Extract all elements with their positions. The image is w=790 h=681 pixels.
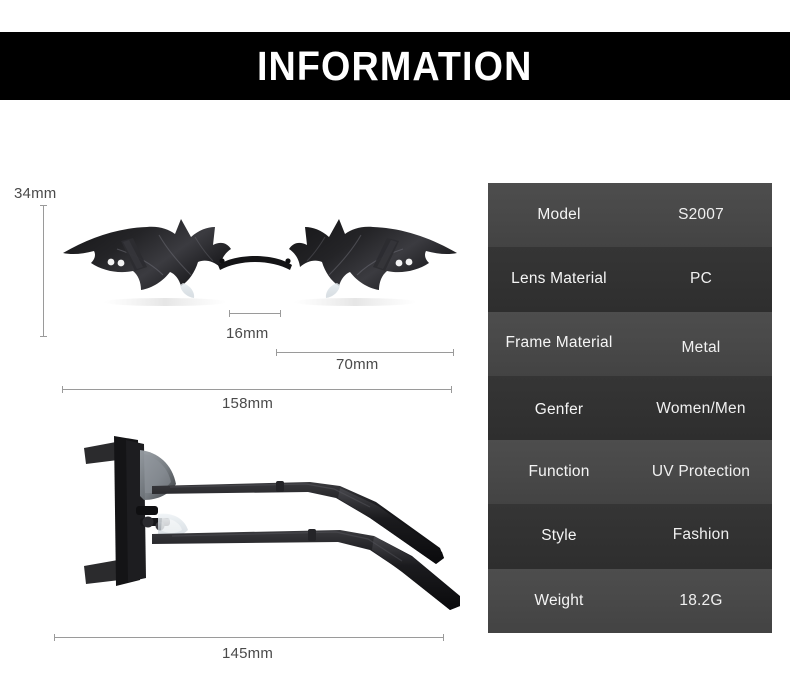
page-title: INFORMATION: [257, 46, 532, 87]
table-row: Frame Material Metal: [488, 312, 772, 376]
spec-key: Lens Material: [488, 270, 630, 289]
table-row: Style Fashion: [488, 504, 772, 568]
dimension-line-lens-height: [43, 205, 44, 337]
nose-pad-right: [326, 283, 340, 298]
spec-value: UV Protection: [630, 463, 772, 482]
spec-value: Women/Men: [630, 400, 772, 419]
specification-table: Model S2007 Lens Material PC Frame Mater…: [488, 183, 772, 633]
rivet: [406, 259, 413, 266]
product-side-view: [40, 430, 460, 610]
temple-joint: [308, 529, 316, 541]
bridge-end-left: [219, 258, 224, 263]
bridge-end-right: [285, 258, 290, 263]
nose-pad-left: [180, 283, 194, 298]
dimension-label-bridge-width: 16mm: [226, 325, 268, 342]
spec-value: S2007: [630, 206, 772, 225]
spec-key: Frame Material: [488, 334, 630, 353]
front-shadow-right: [293, 298, 417, 306]
table-row: Model S2007: [488, 183, 772, 247]
spec-key: Function: [488, 463, 630, 482]
temple-joint: [276, 481, 284, 492]
rivet: [118, 260, 125, 267]
spec-value: Metal: [630, 339, 772, 358]
front-shadow-left: [103, 298, 227, 306]
dimension-line-frame-width: [62, 389, 452, 390]
right-wing: [289, 219, 457, 298]
dimension-label-temple-length: 145mm: [222, 645, 273, 662]
table-row: Weight 18.2G: [488, 569, 772, 633]
dimension-line-lens-width: [276, 352, 454, 353]
dimension-label-frame-width: 158mm: [222, 395, 273, 412]
dimension-line-bridge-width: [229, 313, 281, 314]
information-page: INFORMATION: [0, 0, 790, 681]
table-row: Function UV Protection: [488, 440, 772, 504]
rivet: [108, 259, 115, 266]
spec-key: Style: [488, 527, 630, 546]
dimension-line-temple-length: [54, 637, 444, 638]
dimension-label-lens-height: 34mm: [14, 185, 56, 202]
spec-key: Weight: [488, 592, 630, 611]
rivet: [396, 260, 403, 267]
spec-value: 18.2G: [630, 592, 772, 611]
nose-bridge: [218, 256, 292, 270]
header-banner: INFORMATION: [0, 32, 790, 100]
left-wing: [63, 219, 231, 298]
table-row: Lens Material PC: [488, 247, 772, 311]
dimension-label-lens-width: 70mm: [336, 356, 378, 373]
spec-key: Genfer: [488, 401, 630, 420]
folded-wing-profile: [84, 436, 176, 586]
spec-key: Model: [488, 206, 630, 225]
spec-value: Fashion: [630, 526, 772, 545]
table-row: Genfer Women/Men: [488, 376, 772, 440]
product-front-view: [55, 205, 465, 315]
spec-value: PC: [630, 270, 772, 289]
